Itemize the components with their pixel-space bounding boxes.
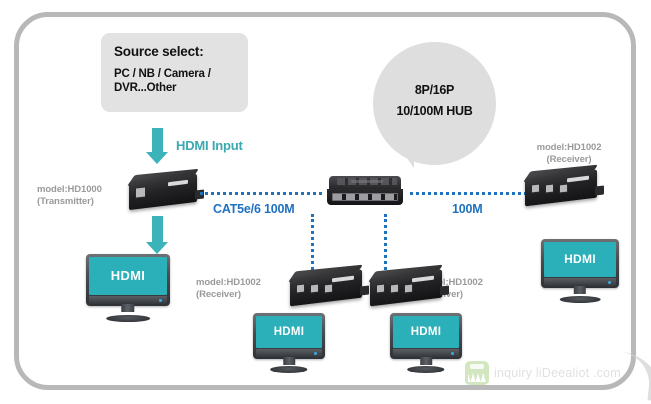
receiver-top-right-role: (Receiver) [522,154,616,166]
monitor-bottom-right: HDMI [390,313,462,373]
cable-hub-to-receiver-bottom-left [311,214,314,270]
monitor-right: HDMI [541,239,619,303]
cable-label-cat5e: CAT5e/6 100M [213,202,294,216]
source-option-line-1: PC / NB / Camera / [114,68,211,80]
source-select-callout: Source select: PC / NB / Camera / DVR...… [101,33,248,112]
monitor-right-label: HDMI [564,252,596,266]
hub-callout-tail [386,140,414,168]
watermark-logo-icon [465,361,489,385]
device-receiver-bottom-right-hd1002 [370,268,442,310]
transmitter-label: model:HD1000 (Transmitter) [37,184,102,208]
device-transmitter-hd1000 [129,172,197,212]
monitor-bottom-left: HDMI [253,313,325,373]
receiver-bottom-left-model: model:HD1002 [196,277,261,288]
source-select-options: PC / NB / Camera / DVR...Other [114,67,248,95]
monitor-left: HDMI [86,254,170,322]
receiver-top-right-label: model:HD1002 (Receiver) [522,142,616,166]
receiver-top-right-model: model:HD1002 [537,142,602,153]
hdmi-input-label: HDMI Input [176,138,243,153]
transmitter-role: (Transmitter) [37,196,102,208]
source-select-title: Source select: [114,44,248,59]
hdmi-input-arrow-icon [146,128,169,164]
cable-label-100m: 100M [452,202,482,216]
watermark-swoosh-icon [594,349,651,401]
device-network-hub [327,176,403,212]
hub-callout-text: 8P/16P 10/100M HUB [373,80,496,122]
device-receiver-top-right-hd1002 [525,168,597,210]
hub-callout-line-1: 8P/16P [415,83,454,97]
device-receiver-bottom-left-hd1002 [290,268,362,310]
source-option-line-2: DVR...Other [114,82,176,94]
cable-transmitter-to-hub [200,192,322,195]
hdmi-output-arrow-icon [146,216,169,254]
hub-callout-line-2: 10/100M HUB [397,104,473,118]
transmitter-model: model:HD1000 [37,184,102,195]
monitor-bottom-right-label: HDMI [411,326,442,338]
monitor-left-label: HDMI [111,268,145,283]
diagram-canvas: Source select: PC / NB / Camera / DVR...… [0,0,651,404]
cable-hub-to-receiver-right [410,192,527,195]
receiver-bottom-left-label: model:HD1002 (Receiver) [196,277,261,301]
monitor-bottom-left-label: HDMI [274,326,305,338]
cable-hub-to-receiver-bottom-right [384,214,387,270]
receiver-bottom-left-role: (Receiver) [196,289,261,301]
